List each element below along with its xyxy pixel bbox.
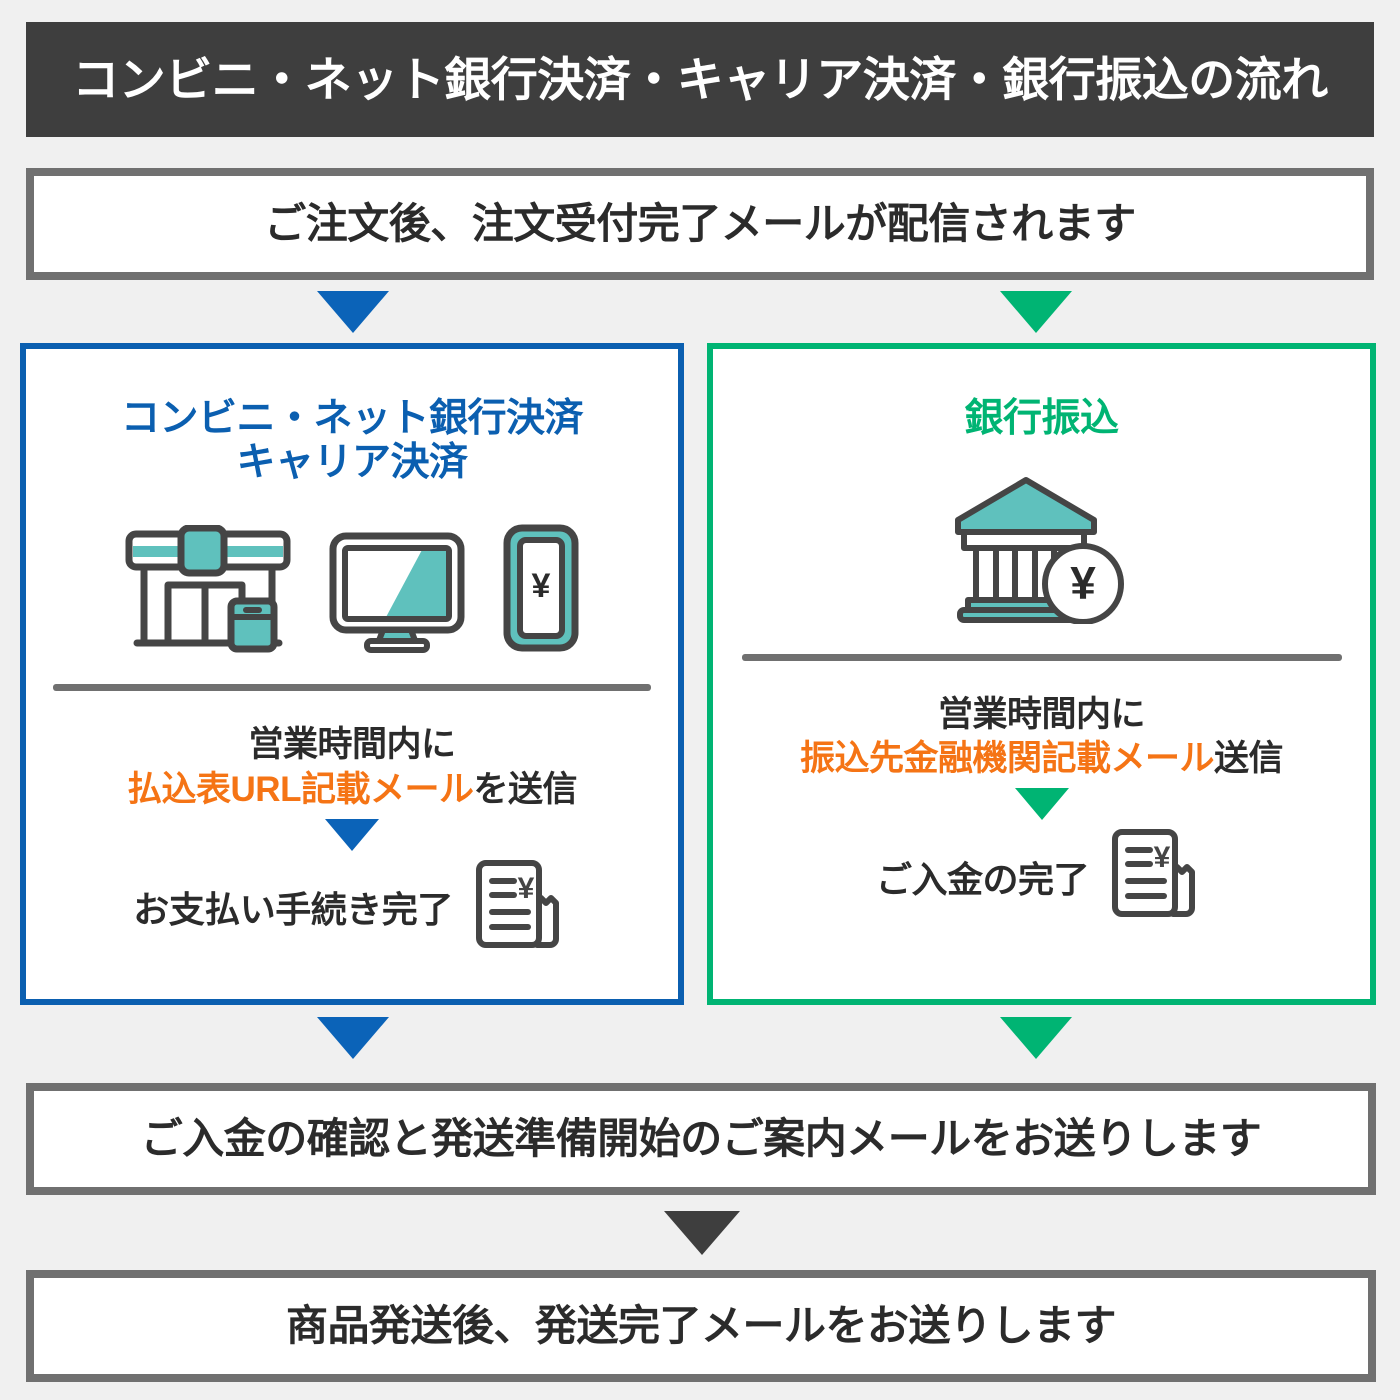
panel-konbini-note: 営業時間内に 払込表URL記載メールを送信 xyxy=(127,723,577,813)
svg-text:¥: ¥ xyxy=(532,567,551,605)
panel-bank-transfer-divider xyxy=(742,654,1342,661)
down-arrow-blue-icon xyxy=(317,1017,389,1059)
panel-bank-transfer-done-label: ご入金の完了 xyxy=(876,851,1089,903)
payment-flow-diagram: コンビニ・ネット銀行決済・キャリア決済・銀行振込の流れ ご注文後、注文受付完了メ… xyxy=(0,0,1400,1400)
panel-bank-transfer: 銀行振込 xyxy=(707,343,1376,1005)
down-arrow-blue-icon xyxy=(317,291,389,333)
page-title: コンビニ・ネット銀行決済・キャリア決済・銀行振込の流れ xyxy=(72,56,1328,103)
panel-konbini-note-highlight: 払込表URL記載メール xyxy=(127,770,473,809)
receipt-yen-icon: ¥ xyxy=(467,857,571,958)
step-order-received-label: ご注文後、注文受付完了メールが配信されます xyxy=(264,203,1136,245)
down-arrow-green-icon xyxy=(1015,788,1069,820)
step-payment-confirmed-label: ご入金の確認と発送準備開始のご案内メールをお送りします xyxy=(141,1118,1262,1160)
panel-konbini-divider xyxy=(53,684,651,691)
panel-konbini-icon-row: ¥ xyxy=(26,518,678,658)
svg-text:¥: ¥ xyxy=(1154,841,1171,874)
down-arrow-green-icon xyxy=(1000,1017,1072,1059)
diagram-header: コンビニ・ネット銀行決済・キャリア決済・銀行振込の流れ xyxy=(26,22,1374,137)
convenience-store-icon xyxy=(123,525,293,658)
bank-building-yen-icon: ¥ xyxy=(954,472,1130,629)
panel-konbini-note-suffix: を送信 xyxy=(473,770,577,809)
step-shipped-label: 商品発送後、発送完了メールをお送りします xyxy=(286,1305,1116,1347)
svg-text:¥: ¥ xyxy=(517,872,534,905)
panel-konbini-done-label: お支払い手続き完了 xyxy=(133,881,453,933)
desktop-monitor-icon xyxy=(327,531,467,658)
panel-bank-transfer-note-highlight: 振込先金融機関記載メール xyxy=(800,739,1214,778)
svg-text:¥: ¥ xyxy=(1070,557,1096,609)
panel-konbini-note-line1: 営業時間内に xyxy=(127,723,577,768)
panel-bank-transfer-title: 銀行振込 xyxy=(964,397,1118,441)
panel-bank-transfer-note-line2: 振込先金融機関記載メール送信 xyxy=(800,737,1283,782)
panel-konbini-payment: コンビニ・ネット銀行決済 キャリア決済 xyxy=(20,343,684,1005)
panel-bank-transfer-note-suffix: 送信 xyxy=(1214,739,1283,778)
down-arrow-dark-icon xyxy=(664,1211,740,1255)
panel-konbini-note-line2: 払込表URL記載メールを送信 xyxy=(127,768,577,813)
panel-bank-transfer-note: 営業時間内に 振込先金融機関記載メール送信 xyxy=(800,693,1283,783)
panel-bank-transfer-icon-row: ¥ xyxy=(713,467,1370,629)
step-order-received-box: ご注文後、注文受付完了メールが配信されます xyxy=(26,168,1374,280)
step-shipped-box: 商品発送後、発送完了メールをお送りします xyxy=(26,1270,1376,1382)
down-arrow-green-icon xyxy=(1000,291,1072,333)
smartphone-yen-icon: ¥ xyxy=(501,523,581,658)
step-payment-confirmed-box: ご入金の確認と発送準備開始のご案内メールをお送りします xyxy=(26,1083,1376,1195)
panel-bank-transfer-done-row: ご入金の完了 ¥ xyxy=(876,826,1207,927)
panel-konbini-title: コンビニ・ネット銀行決済 キャリア決済 xyxy=(121,397,583,484)
down-arrow-blue-icon xyxy=(325,819,379,851)
receipt-yen-icon: ¥ xyxy=(1103,826,1207,927)
panel-konbini-done-row: お支払い手続き完了 ¥ xyxy=(133,857,571,958)
panel-bank-transfer-note-line1: 営業時間内に xyxy=(800,693,1283,738)
